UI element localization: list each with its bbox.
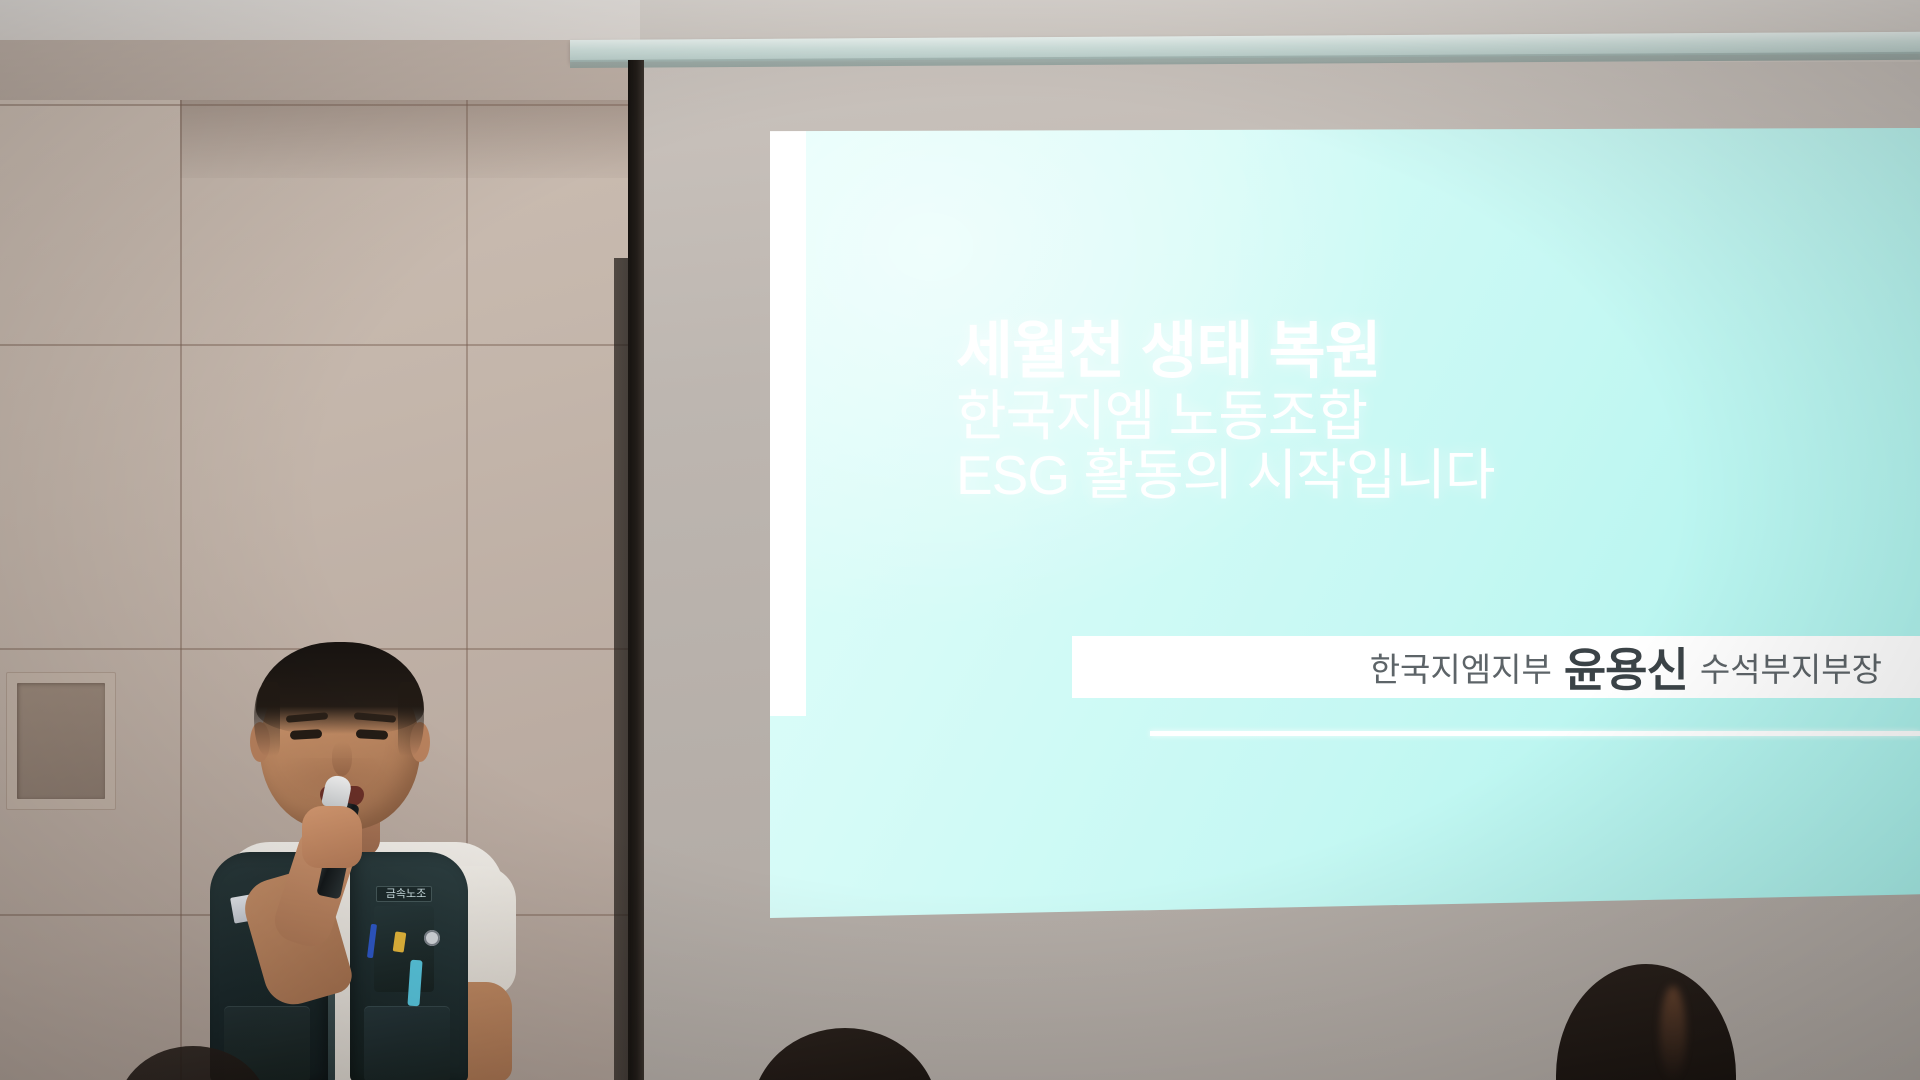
speaker-hair-side-left xyxy=(254,682,280,756)
presenter-name: 윤용신 xyxy=(1564,634,1688,700)
wall-upper-band xyxy=(0,40,650,108)
speaker-eye-right xyxy=(356,729,388,740)
speaker-hair-side-right xyxy=(398,682,424,756)
panel-seam xyxy=(0,104,650,106)
presentation-photo-scene: 세월천 생태 복원 한국지엠 노동조합 ESG 활동의 시작입니다 한국지엠지부… xyxy=(0,0,1920,1080)
slide-title-block: 세월천 생태 복원 한국지엠 노동조합 ESG 활동의 시작입니다 xyxy=(956,320,1896,503)
slide-left-accent-bar xyxy=(770,128,806,716)
wall-dark-seam xyxy=(628,60,644,1080)
slide-title-line-1: 세월천 생태 복원 xyxy=(956,320,1896,384)
slide-divider-rule xyxy=(1150,731,1920,736)
speaker-hand xyxy=(302,806,362,868)
union-badge-label: 금속노조 xyxy=(380,885,432,903)
slide-title-line-2: 한국지엠 노동조합 xyxy=(956,388,1896,445)
panel-seam xyxy=(180,100,182,1080)
projected-slide: 세월천 생태 복원 한국지엠 노동조합 ESG 활동의 시작입니다 한국지엠지부… xyxy=(770,128,1920,918)
speaker-vest-pocket-right xyxy=(364,1006,450,1080)
speaker-nose xyxy=(332,742,352,776)
panel-seam xyxy=(0,344,650,346)
wall-dark-seam-secondary xyxy=(614,258,630,1080)
presenter-role: 수석부지부장 xyxy=(1700,643,1882,691)
wall-access-panel-inset xyxy=(17,683,105,799)
slide-title-line-3: ESG 활동의 시작입니다 xyxy=(956,447,1896,504)
speaker-figure: 금속노조 xyxy=(198,630,518,1080)
speaker-eye-left xyxy=(290,729,322,740)
slide-presenter-banner: 한국지엠지부 윤용신 수석부지부장 xyxy=(1072,636,1920,698)
slide-canvas: 세월천 생태 복원 한국지엠 노동조합 ESG 활동의 시작입니다 한국지엠지부… xyxy=(770,128,1920,918)
audience-head-highlight xyxy=(1660,986,1686,1080)
presenter-organization: 한국지엠지부 xyxy=(1370,643,1552,691)
round-pin-icon xyxy=(424,930,440,946)
wall-shadow xyxy=(180,100,650,178)
